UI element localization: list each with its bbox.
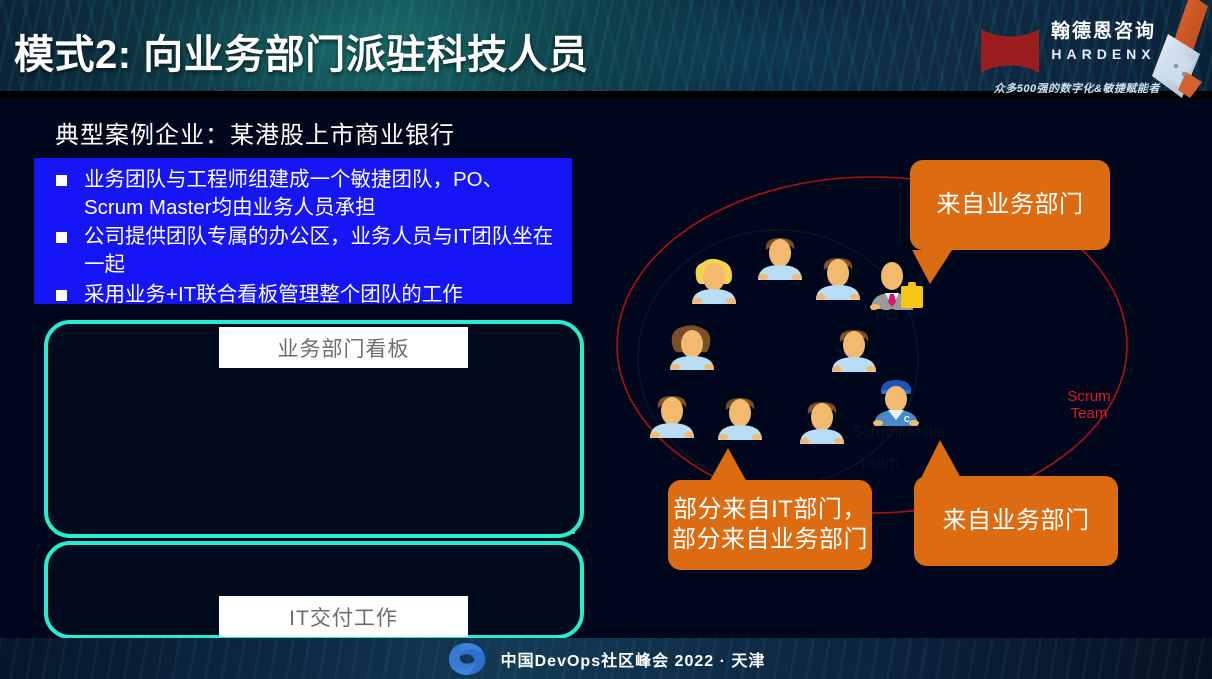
scrummaster-icon: C xyxy=(868,378,924,426)
team-label: Team xyxy=(858,453,900,473)
list-item: 公司提供团队专属的办公区，业务人员与IT团队坐在一起 xyxy=(46,223,562,278)
slide-footer: 中国DevOps社区峰会 2022 · 天津 xyxy=(0,638,1212,679)
team-structure-diagram: Scrum Team Team xyxy=(600,140,1212,610)
logo-chinese-name: 翰德恩咨询 xyxy=(1051,21,1156,43)
case-subtitle: 典型案例企业：某港股上市商业银行 xyxy=(55,115,455,150)
devops-swirl-icon xyxy=(447,641,487,677)
key-points-box: 业务团队与工程师组建成一个敏捷团队，PO、Scrum Master均由业务人员承… xyxy=(34,158,572,304)
bullet-text: 采用业务+IT联合看板管理整个团队的工作 xyxy=(84,281,463,309)
team-callout: 部分来自IT部门，部分来自业务部门 xyxy=(668,480,872,570)
team-member-icon xyxy=(666,324,718,370)
scrum-team-label: Scrum Team xyxy=(1058,388,1120,423)
scrummaster-callout: 来自业务部门 xyxy=(914,476,1118,566)
slide-header: 模式2: 向业务部门派驻科技人员 翰德恩咨询 HARDENX 众多500强的数字… xyxy=(0,0,1212,98)
square-bullet-icon xyxy=(56,175,67,186)
company-logo: 翰德恩咨询 HARDENX xyxy=(979,21,1156,75)
list-item: 业务团队与工程师组建成一个敏捷团队，PO、Scrum Master均由业务人员承… xyxy=(46,166,562,221)
po-callout: 来自业务部门 xyxy=(910,160,1110,250)
page-title: 模式2: 向业务部门派驻科技人员 xyxy=(14,22,589,80)
callout-tail xyxy=(910,250,954,284)
it-delivery-caption: IT交付工作 xyxy=(219,596,468,637)
po-label: PO xyxy=(875,307,898,325)
logo-tagline: 众多500强的数字化&敏捷赋能者 xyxy=(994,80,1160,96)
callout-tail xyxy=(704,448,748,484)
bullet-text: 业务团队与工程师组建成一个敏捷团队，PO、Scrum Master均由业务人员承… xyxy=(84,166,562,221)
bullet-list: 业务团队与工程师组建成一个敏捷团队，PO、Scrum Master均由业务人员承… xyxy=(34,158,572,308)
callout-text: 来自业务部门 xyxy=(937,190,1084,220)
footer-text: 中国DevOps社区峰会 2022 · 天津 xyxy=(501,647,766,671)
square-bullet-icon xyxy=(56,290,67,301)
team-member-icon xyxy=(754,234,806,280)
slide-canvas: 模式2: 向业务部门派驻科技人员 翰德恩咨询 HARDENX 众多500强的数字… xyxy=(0,0,1212,679)
callout-tail xyxy=(918,440,962,480)
callout-text: 部分来自IT部门，部分来自业务部门 xyxy=(672,495,868,555)
callout-text: 来自业务部门 xyxy=(943,506,1090,536)
bullet-text: 公司提供团队专属的办公区，业务人员与IT团队坐在一起 xyxy=(84,223,562,278)
business-board-caption: 业务部门看板 xyxy=(219,327,468,368)
team-member-icon xyxy=(714,394,766,440)
square-bullet-icon xyxy=(56,232,67,243)
logo-english-name: HARDENX xyxy=(1051,46,1155,62)
team-member-icon xyxy=(796,398,848,444)
list-item: 采用业务+IT联合看板管理整个团队的工作 xyxy=(46,281,562,309)
team-member-icon xyxy=(688,258,740,304)
team-member-icon xyxy=(812,254,864,300)
team-member-icon xyxy=(646,392,698,438)
team-member-icon xyxy=(828,326,880,372)
hardenx-mark-icon xyxy=(979,27,1041,75)
